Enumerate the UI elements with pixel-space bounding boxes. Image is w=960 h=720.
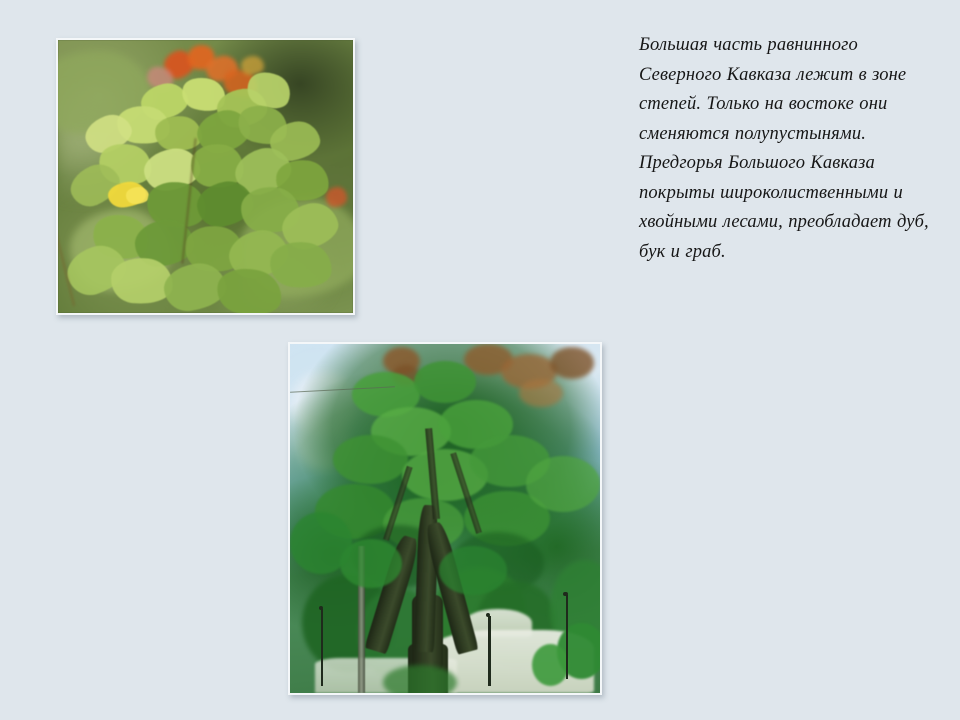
lamp-post	[488, 616, 490, 686]
image-beech-tree[interactable]	[288, 342, 602, 695]
image-beech-tree-canvas	[290, 344, 600, 693]
image-oak-leaves[interactable]	[56, 38, 355, 315]
body-text-paragraph: Большая часть равнинного Северного Кавка…	[639, 31, 945, 267]
canopy-highlight	[526, 456, 600, 512]
lamp-post	[321, 609, 323, 686]
brown-leaf-patch	[550, 347, 593, 378]
foreground-foliage	[290, 512, 352, 575]
canopy-highlight	[333, 435, 407, 484]
brown-leaf-patch	[519, 379, 562, 407]
oak-leaf-yellow-highlight	[126, 187, 150, 203]
lamp-post	[566, 595, 568, 679]
image-oak-leaves-canvas	[58, 40, 353, 313]
presentation-slide: Большая часть равнинного Северного Кавка…	[0, 0, 960, 720]
foreground-foliage	[439, 546, 507, 595]
foreground-grass	[383, 665, 457, 693]
path-side-shrub	[532, 644, 569, 686]
oak-new-growth-red	[326, 187, 347, 206]
